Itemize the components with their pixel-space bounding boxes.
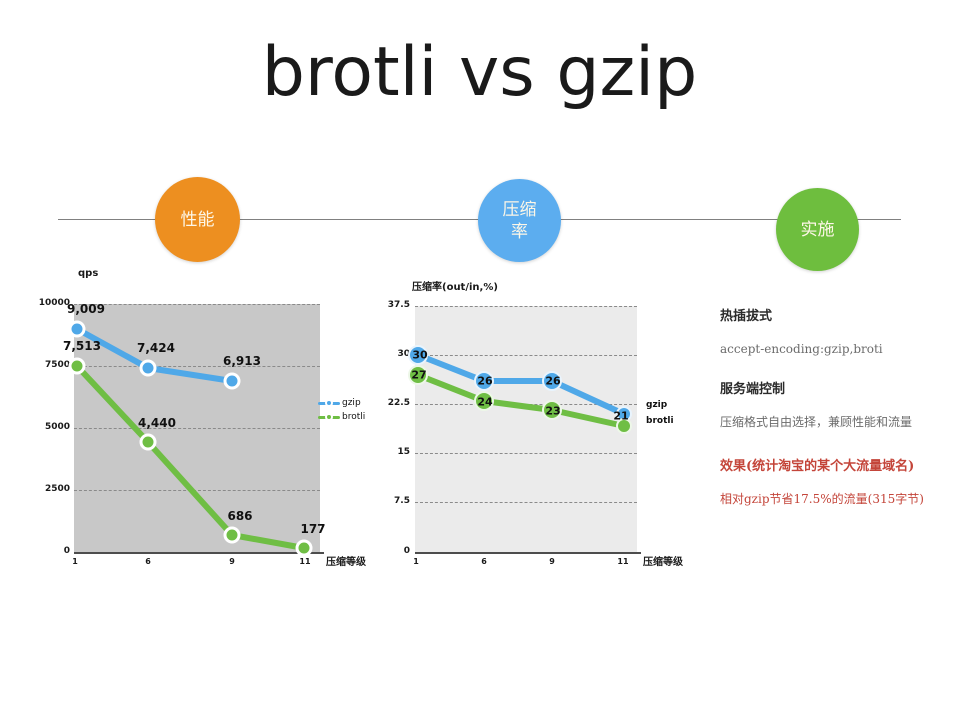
server-control-heading: 服务端控制 xyxy=(720,381,945,399)
gzip-series-swatch-icon xyxy=(318,397,340,409)
ratio-label-gzip-9: 26 xyxy=(545,375,560,388)
brotli-series-swatch-icon xyxy=(318,411,340,423)
qps-chart: qps 10000 7500 5000 2500 0 1 6 9 11 压缩等级 xyxy=(20,268,370,568)
gzip-series-swatch-icon xyxy=(640,399,644,411)
qps-label-gzip-9: 6,913 xyxy=(223,354,261,368)
qps-legend-label-gzip: gzip xyxy=(342,398,361,408)
ratio-label-brotli-9: 23 xyxy=(545,405,560,418)
qps-legend-item-brotli[interactable]: brotli xyxy=(318,410,365,424)
timeline-circle-compression-ratio-label: 压缩 率 xyxy=(503,199,537,243)
slide-canvas: brotli vs gzip 性能 压缩 率 实施 qps 10000 7500… xyxy=(0,0,959,720)
qps-chart-legend: gzip brotli xyxy=(318,396,365,424)
page-title: brotli vs gzip xyxy=(0,33,959,113)
qps-label-brotli-1: 7,513 xyxy=(63,339,101,353)
effect-body: 相对gzip节省17.5%的流量(315字节) xyxy=(720,490,945,509)
ratio-label-gzip-6: 26 xyxy=(477,375,492,388)
timeline-circle-implementation-label: 实施 xyxy=(801,219,835,241)
implementation-text-column: 热插拔式 accept-encoding:gzip,broti 服务端控制 压缩… xyxy=(720,308,945,509)
qps-label-brotli-11: 177 xyxy=(300,522,325,536)
qps-label-brotli-9: 686 xyxy=(227,509,252,523)
timeline-circle-implementation[interactable]: 实施 xyxy=(776,188,859,271)
ratio-label-brotli-6: 24 xyxy=(477,396,492,409)
hot-swap-heading: 热插拔式 xyxy=(720,308,945,326)
timeline-circle-performance[interactable]: 性能 xyxy=(155,177,240,262)
hot-swap-body: accept-encoding:gzip,broti xyxy=(720,340,945,359)
timeline-circle-compression-ratio[interactable]: 压缩 率 xyxy=(478,179,561,262)
ratio-legend-item-brotli[interactable]: brotli xyxy=(640,412,674,430)
effect-block: 效果(统计淘宝的某个大流量域名) 相对gzip节省17.5%的流量(315字节) xyxy=(720,458,945,509)
ratio-label-gzip-1: 30 xyxy=(412,349,427,362)
compression-ratio-chart: 压缩率(out/in,%) 37.5 30 22.5 15 7.5 0 1 6 … xyxy=(398,268,698,568)
qps-label-gzip-1: 9,009 xyxy=(67,302,105,316)
qps-label-brotli-6: 4,440 xyxy=(138,416,176,430)
qps-label-gzip-6: 7,424 xyxy=(137,341,175,355)
server-control-body: 压缩格式自由选择，兼顾性能和流量 xyxy=(720,413,945,432)
qps-legend-label-brotli: brotli xyxy=(342,412,365,422)
ratio-chart-legend: gzip brotli xyxy=(640,398,674,430)
ratio-legend-label-brotli: brotli xyxy=(646,416,674,426)
effect-heading: 效果(统计淘宝的某个大流量域名) xyxy=(720,458,945,476)
ratio-legend-item-gzip[interactable]: gzip xyxy=(640,398,674,412)
ratio-label-brotli-1: 27 xyxy=(411,369,426,382)
ratio-legend-label-gzip: gzip xyxy=(646,400,667,410)
ratio-label-brotli-11: 21 xyxy=(613,410,628,423)
timeline-circle-performance-label: 性能 xyxy=(181,209,215,231)
qps-legend-item-gzip[interactable]: gzip xyxy=(318,396,365,410)
brotli-series-swatch-icon xyxy=(640,415,644,427)
